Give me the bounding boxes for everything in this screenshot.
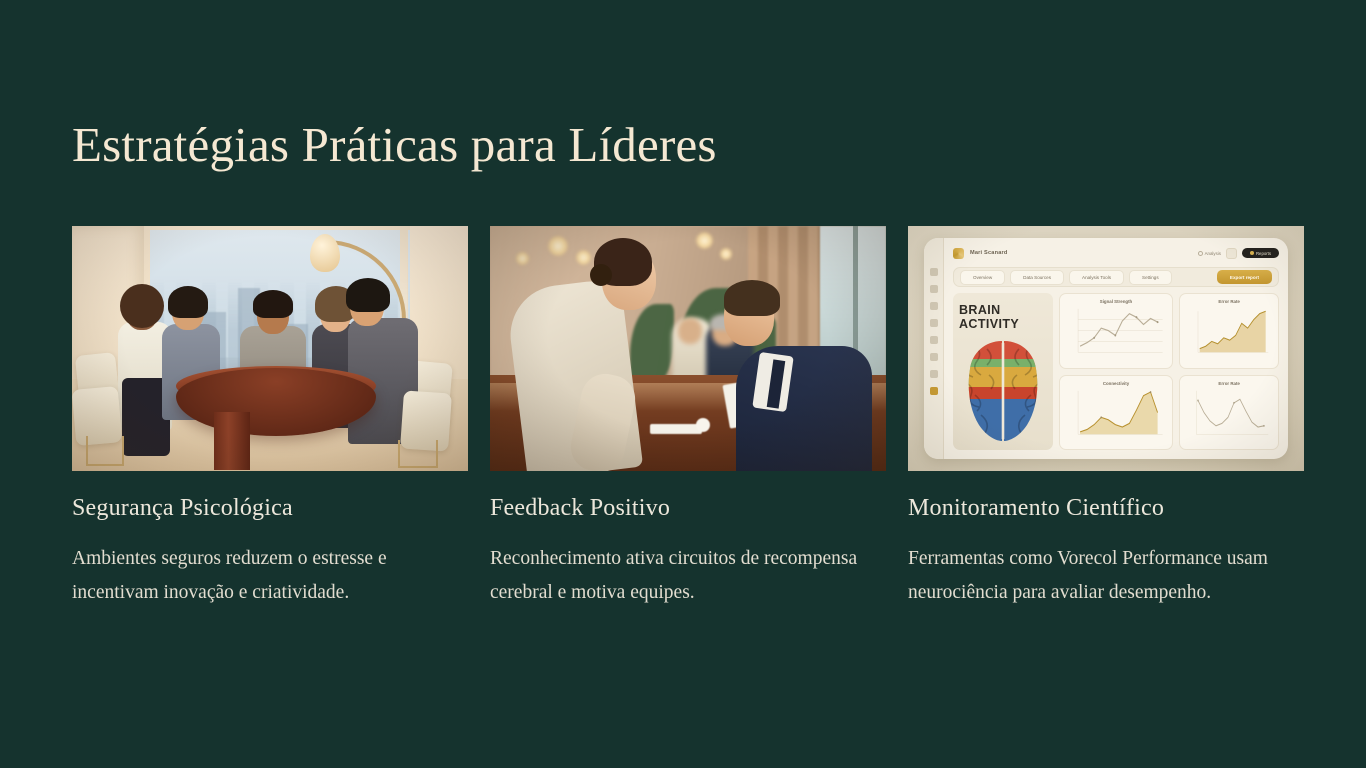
- boardroom-meeting-photo: [72, 226, 468, 471]
- connectivity-area-chart: [1066, 386, 1167, 442]
- grid-icon-button[interactable]: [1226, 248, 1237, 259]
- header-actions: Analysis Reports: [1198, 248, 1279, 259]
- page-title: Estratégias Práticas para Líderes: [72, 116, 717, 173]
- panel-brain-activity: BRAIN ACTIVITY: [953, 293, 1053, 450]
- photo1-vignette: [72, 226, 468, 471]
- sidebar-grid-icon[interactable]: [930, 370, 938, 378]
- error-rate-area-chart: [1186, 304, 1272, 360]
- export-report-button[interactable]: Export report: [1217, 270, 1272, 284]
- sidebar-settings-icon[interactable]: [930, 387, 938, 395]
- sidebar-target-icon[interactable]: [930, 336, 938, 344]
- panel-error-rate-area: Error Rate: [1179, 293, 1279, 369]
- account-pill-label: Reports: [1256, 251, 1271, 256]
- card-monitoramento-cientifico: Mari Scanard Analysis Rep: [908, 226, 1304, 610]
- brain-illustration: [955, 337, 1051, 445]
- tab-settings[interactable]: Settings: [1129, 270, 1172, 285]
- analysis-link[interactable]: Analysis: [1198, 251, 1221, 256]
- brand-logo-icon: [953, 248, 964, 259]
- sidebar-brain-icon[interactable]: [930, 319, 938, 327]
- pin-icon: [1198, 251, 1203, 256]
- panel-error-rate-line: Error Rate: [1179, 375, 1279, 451]
- sidebar-menu-icon[interactable]: [930, 268, 938, 276]
- cards-row: Segurança Psicológica Ambientes seguros …: [72, 226, 1294, 610]
- feedback-conversation-photo: [490, 226, 886, 471]
- tab-overview[interactable]: Overview: [960, 270, 1005, 285]
- dashboard-panels: Signal Strength: [953, 293, 1279, 450]
- photo2-vignette: [490, 226, 886, 471]
- sidebar-dashboard-icon[interactable]: [930, 285, 938, 293]
- brain-activity-title: BRAIN ACTIVITY: [959, 303, 1047, 331]
- card-title: Feedback Positivo: [490, 495, 886, 522]
- error-rate-line-chart: [1186, 386, 1272, 442]
- dashboard-sidebar[interactable]: [924, 238, 944, 459]
- sidebar-chart-icon[interactable]: [930, 302, 938, 310]
- card-title: Segurança Psicológica: [72, 495, 468, 522]
- card-seguranca-psicologica: Segurança Psicológica Ambientes seguros …: [72, 226, 468, 610]
- brand-name: Mari Scanard: [970, 250, 1008, 256]
- status-dot-icon: [1250, 251, 1254, 255]
- card-title: Monitoramento Científico: [908, 495, 1304, 522]
- card-description: Ambientes seguros reduzem o estresse e i…: [72, 542, 462, 610]
- brain-svg: [955, 337, 1051, 445]
- tab-data-sources[interactable]: Data Sources: [1010, 270, 1064, 285]
- account-pill-button[interactable]: Reports: [1242, 248, 1279, 258]
- analysis-link-label: Analysis: [1205, 251, 1221, 256]
- tab-analysis-tools[interactable]: Analysis Tools: [1069, 270, 1124, 285]
- card-description: Ferramentas como Vorecol Performance usa…: [908, 542, 1288, 610]
- sidebar-layers-icon[interactable]: [930, 353, 938, 361]
- panel-connectivity: Connectivity: [1059, 375, 1174, 451]
- dashboard-tabbar: Overview Data Sources Analysis Tools Set…: [953, 267, 1279, 287]
- slide-root: Estratégias Práticas para Líderes: [0, 0, 1366, 768]
- dashboard-window: Mari Scanard Analysis Rep: [924, 238, 1288, 459]
- signal-strength-line-chart: [1066, 304, 1167, 360]
- dashboard-main: Mari Scanard Analysis Rep: [944, 238, 1288, 459]
- brain-dashboard-mockup: Mari Scanard Analysis Rep: [908, 226, 1304, 471]
- card-description: Reconhecimento ativa circuitos de recomp…: [490, 542, 880, 610]
- dashboard-header: Mari Scanard Analysis Rep: [953, 245, 1279, 261]
- panel-signal-strength: Signal Strength: [1059, 293, 1174, 369]
- card-feedback-positivo: Feedback Positivo Reconhecimento ativa c…: [490, 226, 886, 610]
